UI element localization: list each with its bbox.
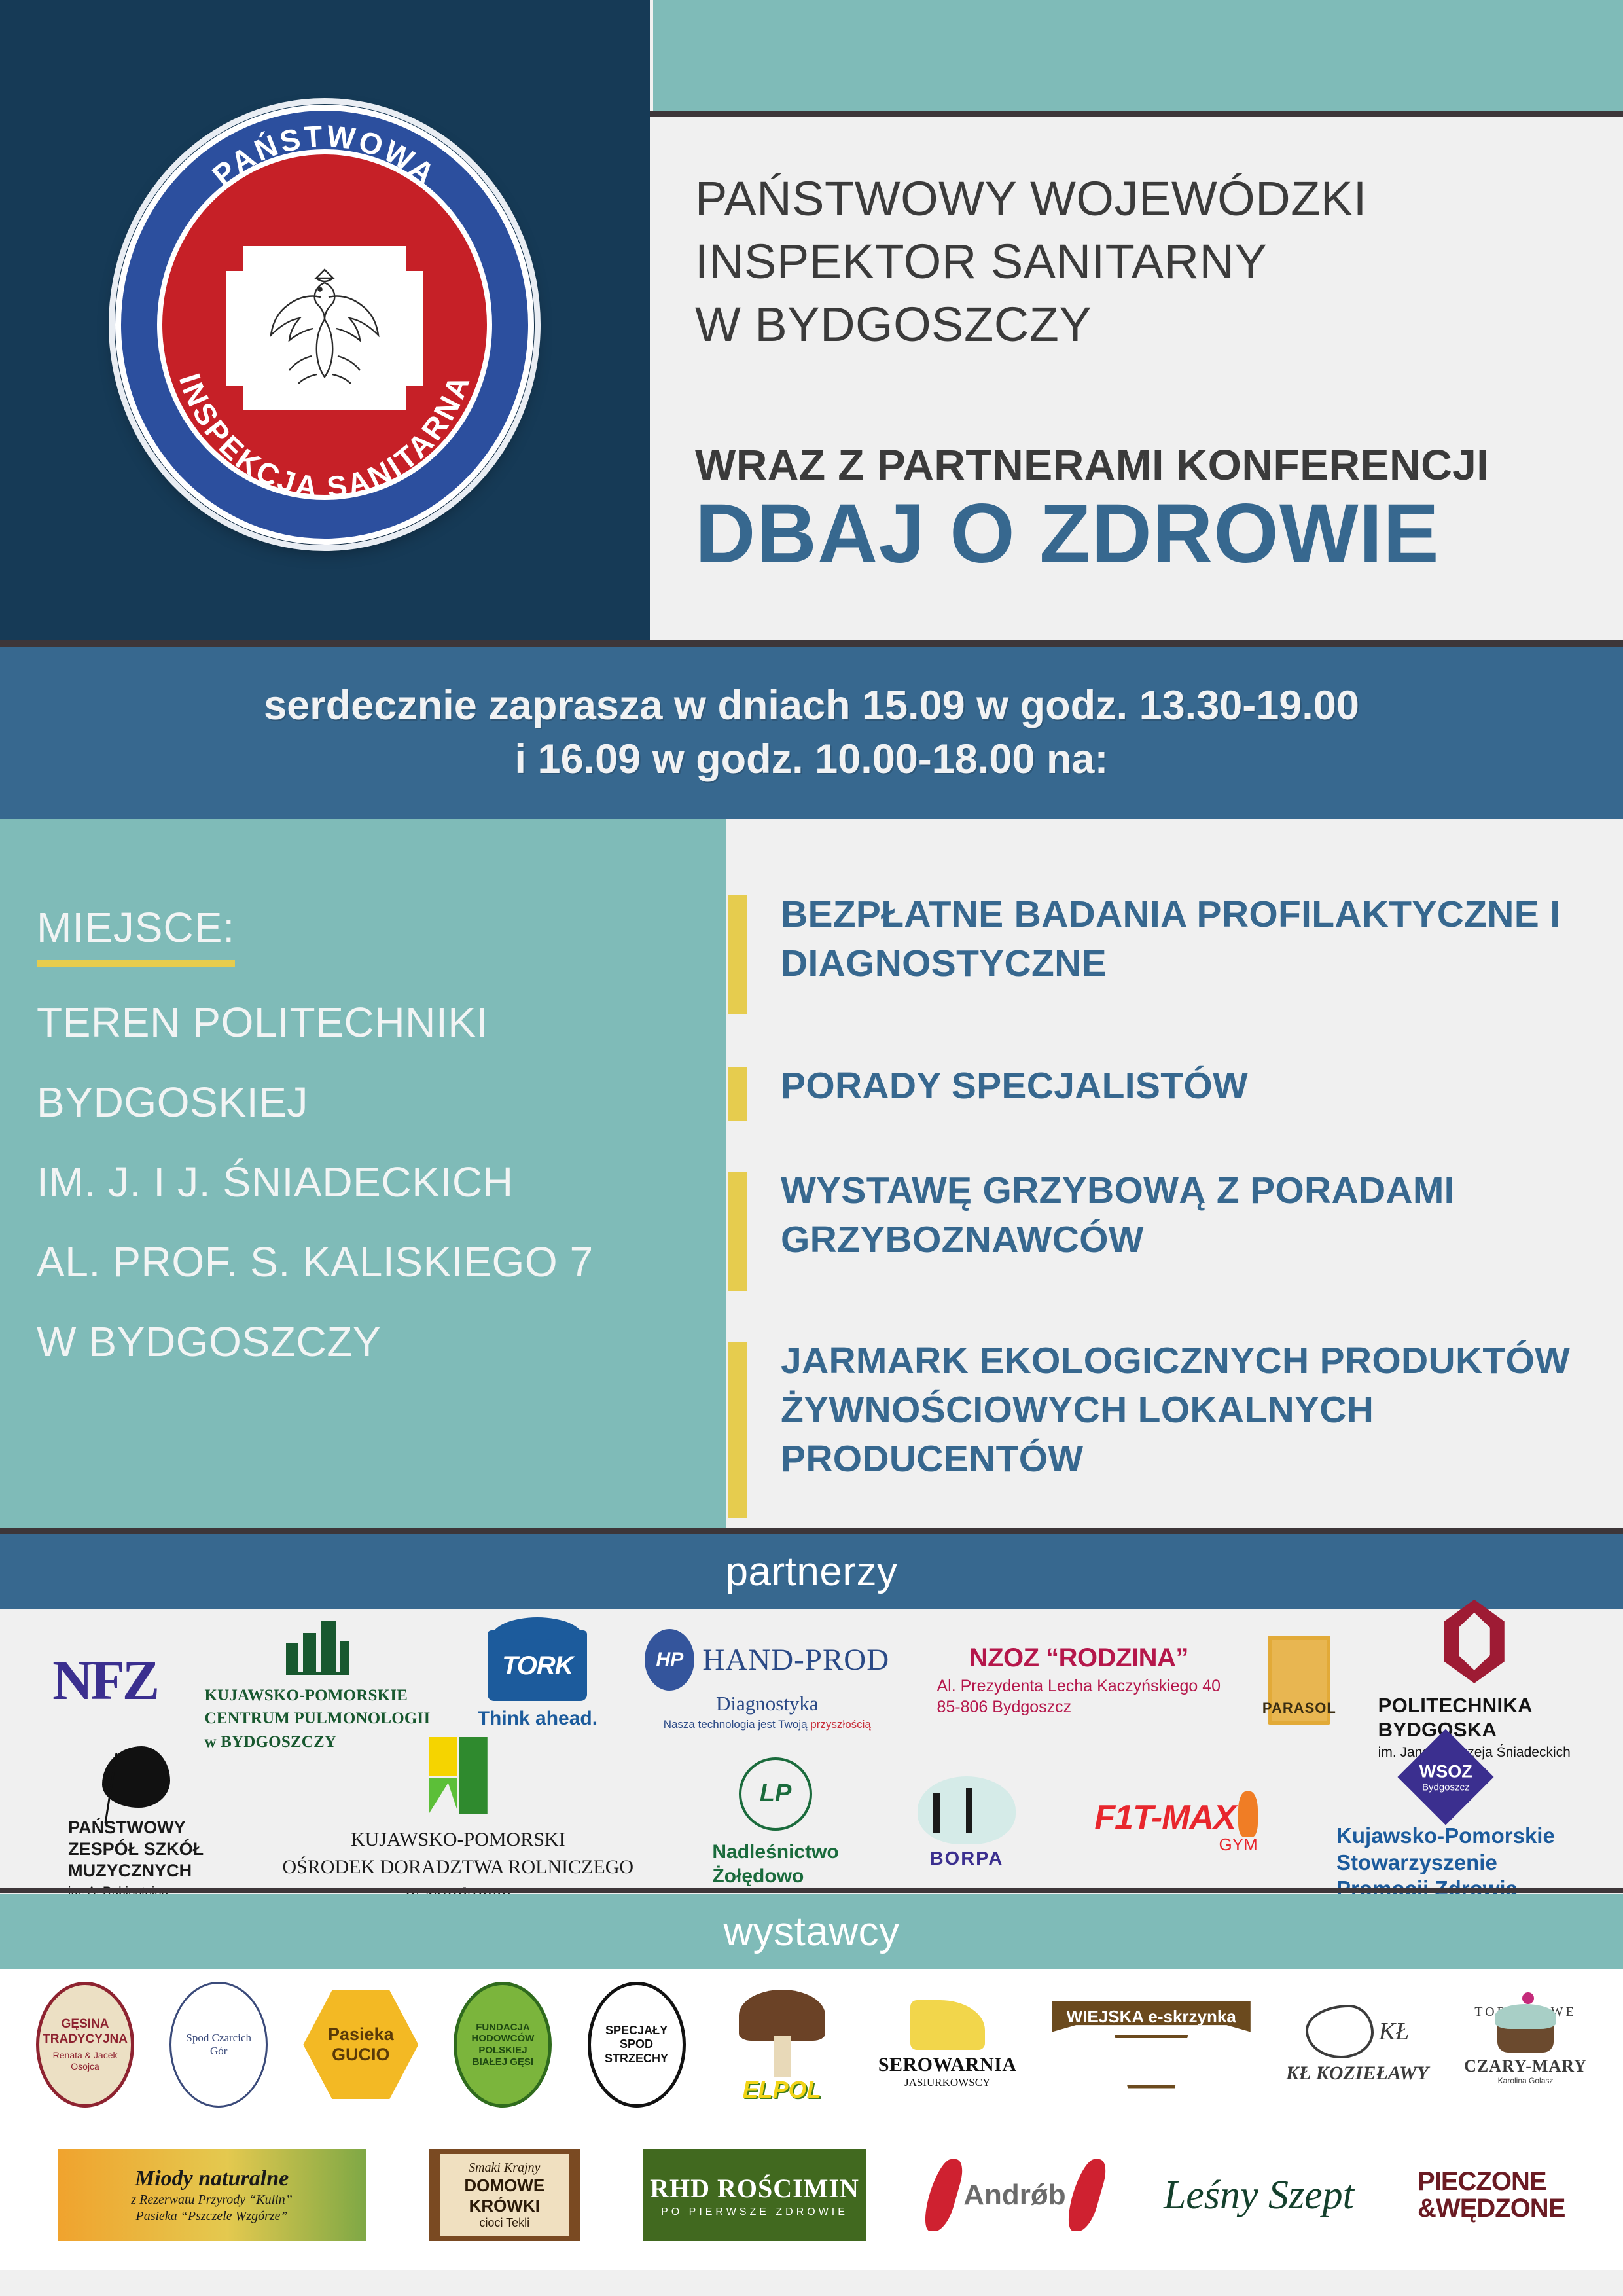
invitation-banner: serdecznie zaprasza w dniach 15.09 w god… [0,647,1623,819]
offering-item: WYSTAWĘ GRZYBOWĄ Z PORADAMI GRZYBOZNAWCÓ… [728,1166,1623,1265]
header-teal-strip [653,0,1623,113]
logo-osrodek-doradztwa-rolniczego: KUJAWSKO-POMORSKI OŚRODEK DORADZTWA ROLN… [282,1737,633,1909]
elpol-name: ELPOL [743,2076,821,2104]
gesina-sub: Renata & Jacek Osojca [43,2050,128,2072]
partners-logos: NFZ KUJAWSKO-POMORSKIE CENTRUM PULMONOLO… [0,1609,1623,1894]
muzyczne-line-3: MUZYCZNYCH [68,1860,204,1882]
cupcake-icon [1497,2024,1554,2053]
cow-drawing-icon: Spod Czarcich Gór [169,1982,268,2108]
exhibitors-row-1: GĘSINA TRADYCYJNA Renata & Jacek Osojca … [0,1969,1623,2121]
logo-serowarnia-jasiurkowscy: SEROWARNIA JASIURKOWSCY [878,2000,1017,2089]
place-block: MIEJSCE: TEREN POLITECHNIKI BYDGOSKIEJ I… [37,903,711,1366]
wsoz-line-2: Stowarzyszenie [1336,1850,1555,1876]
bullet-marker-icon [728,1342,747,1518]
logo-miody-naturalne: Miody naturalne z Rezerwatu Przyrody “Ku… [58,2149,366,2241]
bullet-marker-icon [728,895,747,1014]
athlete-icon [1238,1791,1258,1837]
white-goose-icon: FUNDACJA HODOWCÓW POLSKIEJ BIAŁEJ GĘSI [454,1982,552,2108]
sanitary-inspection-seal-icon: PAŃSTWOWA INSPEKCJA SANITARNA [115,105,534,545]
offering-item: BEZPŁATNE BADANIA PROFILAKTYCZNE I DIAGN… [728,890,1623,988]
strzechy-name: SPECJAŁY SPOD STRZECHY [599,2024,675,2066]
logo-parasol: PARASOL [1268,1636,1330,1725]
gucio-name: Pasieka GUCIO [303,2024,418,2065]
czary-sub: Karolina Golasz [1498,2076,1554,2085]
offering-item: JARMARK EKOLOGICZNYCH PRODUKTÓW ŻYWNOŚCI… [728,1336,1623,1484]
bullet-marker-icon [728,1067,747,1121]
piano-icon [102,1746,170,1808]
offering-text: BEZPŁATNE BADANIA PROFILAKTYCZNE I DIAGN… [781,890,1623,988]
nzoz-name: NZOZ “RODZINA” [969,1643,1188,1673]
borpa-name: BORPA [930,1848,1004,1870]
authority-line-1: PAŃSTWOWY WOJEWÓDZKI [695,168,1598,230]
logo-gesina-tradycyjna: GĘSINA TRADYCYJNA Renata & Jacek Osojca [36,1982,134,2108]
logo-nzoz-rodzina: NZOZ “RODZINA” Al. Prezydenta Lecha Kacz… [936,1643,1221,1717]
exhibitors-logos: GĘSINA TRADYCYJNA Renata & Jacek Osojca … [0,1969,1623,2270]
androb-name: Andrǿb [963,2179,1065,2212]
children-icon [918,1776,1016,1844]
logo-wiejska-e-skrzynka: WIEJSKA e-skrzynka [1052,2001,1251,2089]
logo-rhd-roscimin: RHD ROŚCIMIN PO PIERWSZE ZDROWIE [643,2149,866,2241]
krowki-name: DOMOWE KRÓWKI [440,2176,569,2216]
polish-eagle-icon [243,246,406,410]
gesina-name: GĘSINA TRADYCYJNA [43,2017,128,2047]
nadlesnictwo-line-1: Nadleśnictwo [712,1840,838,1865]
miody-sub: z Rezerwatu Przyrody “Kulin” [131,2193,293,2208]
nadlesnictwo-line-2: Żołędowo [712,1864,838,1889]
roscimin-name: RHD ROŚCIMIN [650,2173,859,2204]
partners-label: partnerzy [726,1549,898,1595]
place-line-3: IM. J. I J. ŚNIADECKICH [37,1158,711,1206]
handprod-sub: Diagnostyka [716,1692,819,1715]
miody-sub2: Pasieka “Pszczele Wzgórze” [135,2209,287,2224]
poster-root: PAŃSTWOWA INSPEKCJA SANITARNA PAŃSTWOWY … [0,0,1623,2296]
bullet-marker-icon [728,1172,747,1291]
hp-badge-icon: HP [645,1629,694,1691]
tork-name: TORK [502,1651,573,1681]
wsoz-mark: WSOZ [1419,1761,1472,1780]
offering-text: WYSTAWĘ GRZYBOWĄ Z PORADAMI GRZYBOZNAWCÓ… [781,1166,1623,1265]
odr-line-2: OŚRODEK DORADZTWA ROLNICZEGO [282,1854,633,1881]
honeycomb-icon: Pasieka GUCIO [303,1990,418,2099]
logo-pieczone-wedzone: PIECZONE&WĘDZONE [1418,2168,1565,2222]
offering-text: PORADY SPECJALISTÓW [781,1062,1623,1111]
exhibitors-label: wystawcy [723,1909,899,1955]
header-logo-panel: PAŃSTWOWA INSPEKCJA SANITARNA [0,0,650,645]
serowarnia-name: SEROWARNIA [878,2054,1017,2076]
androb-swoosh-icon [919,2159,967,2231]
fitmax-sub: GYM [1219,1835,1258,1855]
logo-borpa: BORPA [918,1776,1016,1870]
odr-line-1: KUJAWSKO-POMORSKI [282,1826,633,1854]
exhibitors-top-rule [0,1888,1623,1893]
authority-line-3: W BYDGOSZCZY [695,293,1598,356]
place-label: MIEJSCE: [37,903,235,967]
handprod-tagline-b: przyszłością [810,1718,871,1731]
exhibitors-row-2: Miody naturalne z Rezerwatu Przyrody “Ku… [0,2121,1623,2270]
fitmax-name: F1T-MAX [1094,1798,1235,1837]
handprod-name: HAND-PROD [702,1642,889,1677]
logo-nfz: NFZ [52,1647,157,1713]
logo-pasieka-gucio: Pasieka GUCIO [303,1990,418,2099]
logo-politechnika-bydgoska: POLITECHNIKA BYDGOSKA im. Jana i Jędrzej… [1378,1600,1571,1761]
main-content: MIEJSCE: TEREN POLITECHNIKI BYDGOSKIEJ I… [0,819,1623,1532]
miody-name: Miody naturalne [135,2166,289,2191]
vegetable-crate-icon [1109,2035,1193,2089]
place-line-1: TEREN POLITECHNIKI [37,998,711,1047]
place-line-5: W BYDGOSZCZY [37,1318,711,1366]
wsoz-line-1: Kujawsko-Pomorskie [1336,1823,1555,1850]
offering-item: PORADY SPECJALISTÓW [728,1062,1623,1111]
logo-wsoz: WSOZBydgoszcz Kujawsko-Pomorskie Stowarz… [1336,1743,1555,1903]
handprod-tagline-a: Nasza technologia jest Twoją [664,1718,811,1731]
partners-band: partnerzy [0,1534,1623,1609]
logo-androb: Andrǿb [929,2159,1099,2231]
authority-name: PAŃSTWOWY WOJEWÓDZKI INSPEKTOR SANITARNY… [695,168,1598,357]
lasy-panstwowe-icon: LP [739,1757,812,1831]
politechnika-line-2: BYDGOSKA [1378,1718,1571,1742]
place-line-4: AL. PROF. S. KALISKIEGO 7 [37,1238,711,1286]
kozielawy-name: KŁ KOZIEŁAWY [1286,2062,1429,2085]
goose-seal-icon: GĘSINA TRADYCYJNA Renata & Jacek Osojca [36,1982,134,2108]
wiejska-name: WIEJSKA e-skrzynka [1052,2001,1251,2032]
odr-mark-icon [429,1737,488,1814]
androb-swoosh-icon [1062,2159,1111,2231]
offerings-list: BEZPŁATNE BADANIA PROFILAKTYCZNE I DIAGN… [728,819,1623,1532]
gesi-name: FUNDACJA HODOWCÓW POLSKIEJ BIAŁEJ GĘSI [465,2022,541,2068]
wsoz-mark-sub: Bydgoszcz [1419,1782,1472,1793]
partners-top-rule [0,1528,1623,1534]
logo-zespol-szkol-muzycznych: PAŃSTWOWY ZESPÓŁ SZKÓŁ MUZYCZNYCH im. A.… [68,1746,204,1899]
mushroom-icon: ELPOL [721,1986,843,2104]
czarcich-name: Spod Czarcich Gór [179,2032,258,2058]
invitation-line-2: i 16.09 w godz. 10.00-18.00 na: [515,733,1109,787]
parasol-name: PARASOL [1262,1700,1336,1717]
nzoz-address-2: 85-806 Bydgoszcz [936,1696,1221,1717]
serowarnia-sub: JASIURKOWSCY [904,2076,990,2089]
tork-tagline: Think ahead. [478,1708,597,1730]
politechnika-line-1: POLITECHNIKA [1378,1694,1571,1718]
muzyczne-line-1: PAŃSTWOWY [68,1817,204,1839]
offering-text: JARMARK EKOLOGICZNYCH PRODUKTÓW ŻYWNOŚCI… [781,1336,1623,1484]
logo-centrum-pulmonologii: KUJAWSKO-POMORSKIE CENTRUM PULMONOLOGII … [204,1607,430,1754]
logo-spod-czarcich-gor: Spod Czarcich Gór [169,1982,268,2108]
logo-nadlesnictwo-zoledowo: LP Nadleśnictwo Żołędowo [712,1757,838,1889]
politechnika-mark-icon [1444,1600,1505,1683]
header-divider-rule [650,111,1623,117]
logo-tork: TORK Think ahead. [478,1630,597,1730]
roscimin-sub: PO PIERWSZE ZDROWIE [661,2206,848,2218]
logo-fit-max-gym: F1T-MAX GYM [1094,1791,1257,1855]
logo-hand-prod: HP HAND-PROD Diagnostyka Nasza technolog… [645,1629,889,1731]
header-bottom-rule [0,640,1623,647]
logo-fundacja-bialej-gesi: FUNDACJA HODOWCÓW POLSKIEJ BIAŁEJ GĘSI [454,1982,552,2108]
logo-specjaly-spod-strzechy: SPECJAŁY SPOD STRZECHY [588,1982,686,2108]
authority-line-2: INSPEKTOR SANITARNY [695,230,1598,293]
cheese-icon [910,2000,985,2050]
invitation-line-1: serdecznie zaprasza w dniach 15.09 w god… [264,679,1359,733]
pulmonologia-line-1: KUJAWSKO-POMORSKIE [204,1684,430,1708]
logo-elpol: ELPOL [721,1986,843,2104]
building-icon [286,1607,349,1675]
tork-flag-icon: TORK [488,1630,587,1701]
exhibitors-band: wystawcy [0,1894,1623,1969]
conference-title: DBAJ O ZDROWIE [695,492,1611,576]
partners-row-1: NFZ KUJAWSKO-POMORSKIE CENTRUM PULMONOLO… [0,1609,1623,1751]
krowki-sub: Smaki Krajny [440,2161,569,2176]
nzoz-address-1: Al. Prezydenta Lecha Kaczyńskiego 40 [936,1676,1221,1696]
s-monogram-icon: SPECJAŁY SPOD STRZECHY [588,1982,686,2108]
logo-kl-kozielawy: KŁ KŁ KOZIEŁAWY [1286,2005,1429,2085]
wsoz-diamond-icon: WSOZBydgoszcz [1397,1729,1493,1825]
place-line-2: BYDGOSKIEJ [37,1078,711,1126]
krowki-sub2: cioci Tekli [440,2216,569,2230]
logo-lesny-szept: Leśny Szept [1164,2172,1354,2219]
goat-icon [1306,2005,1374,2058]
partners-row-2: PAŃSTWOWY ZESPÓŁ SZKÓŁ MUZYCZNYCH im. A.… [0,1751,1623,1894]
with-partners-text: WRAZ Z PARTNERAMI KONFERENCJI [695,440,1611,490]
logo-torcikowe-czary-mary: TORCIKOWE CZARY-MARY Karolina Golasz [1464,2005,1587,2085]
muzyczne-line-2: ZESPÓŁ SZKÓŁ [68,1839,204,1860]
parasol-icon: PARASOL [1268,1636,1330,1725]
logo-domowe-krowki: Smaki Krajny DOMOWE KRÓWKI cioci Tekli [429,2149,580,2241]
pulmonologia-line-2: CENTRUM PULMONOLOGII [204,1707,430,1731]
